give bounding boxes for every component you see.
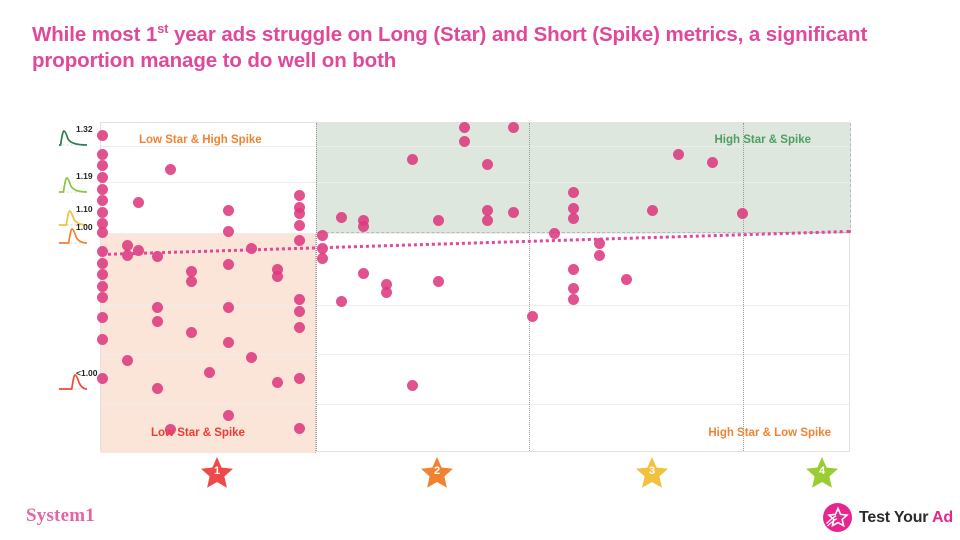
- data-point: [97, 160, 108, 171]
- gridline-vertical: [529, 123, 530, 451]
- data-point: [223, 337, 234, 348]
- y-axis-tick: 1.19: [58, 174, 102, 200]
- data-point: [336, 296, 347, 307]
- gridline-vertical: [316, 123, 317, 451]
- star-number-label: 4: [805, 465, 839, 477]
- data-point: [673, 149, 684, 160]
- data-point: [152, 302, 163, 313]
- title-superscript: st: [157, 21, 168, 36]
- data-point: [122, 355, 133, 366]
- y-axis-tick: 1.00: [58, 225, 102, 251]
- star-badge-icon: [823, 503, 852, 532]
- title-line1-b: year ads struggle on Long (Star) and Sho…: [168, 23, 760, 46]
- ad-label: Ad: [932, 509, 953, 526]
- data-point: [459, 136, 470, 147]
- scatter-chart: Low Star & High Spike High Star & Spike …: [100, 122, 850, 452]
- quadrant-label-high-star-and-spike: High Star & Spike: [715, 134, 812, 146]
- title-line1-a: While most 1: [32, 23, 157, 46]
- gridline-horizontal: [101, 404, 849, 405]
- data-point: [97, 184, 108, 195]
- data-point: [272, 271, 283, 282]
- data-point: [97, 172, 108, 183]
- test-your-ad-text: Test Your Ad: [859, 509, 953, 527]
- quadrant-label-low-star-and-spike: Low Star & Spike: [151, 427, 245, 439]
- x-axis-star-3: 3: [635, 456, 669, 490]
- test-your-ad-logo: Test Your Ad: [823, 503, 953, 532]
- zone-low-star-and-spike: [101, 233, 316, 453]
- data-point: [568, 283, 579, 294]
- star-glyph-icon: [823, 503, 852, 532]
- x-axis-star-4: 4: [805, 456, 839, 490]
- data-point: [97, 130, 108, 141]
- data-point: [737, 208, 748, 219]
- data-point: [152, 383, 163, 394]
- data-point: [433, 215, 444, 226]
- gridline-horizontal: [101, 182, 849, 183]
- y-axis-tick: <1.00: [58, 371, 102, 397]
- y-axis-tick-label: <1.00: [76, 368, 98, 378]
- gridline-horizontal: [101, 354, 849, 355]
- test-your-label: Test Your: [859, 509, 932, 526]
- data-point: [647, 205, 658, 216]
- data-point: [358, 268, 369, 279]
- data-point: [97, 258, 108, 269]
- slide: While most 1st year ads struggle on Long…: [0, 0, 960, 540]
- data-point: [152, 316, 163, 327]
- data-point: [97, 334, 108, 345]
- x-axis-star-2: 2: [420, 456, 454, 490]
- gridline-horizontal: [101, 305, 849, 306]
- star-number-label: 2: [420, 465, 454, 477]
- y-axis-tick-label: 1.32: [76, 124, 93, 134]
- data-point: [97, 207, 108, 218]
- data-point: [381, 287, 392, 298]
- data-point: [122, 240, 133, 251]
- data-point: [549, 228, 560, 239]
- y-axis: 1.321.191.101.00<1.00: [58, 122, 102, 452]
- system1-logo: System1: [26, 505, 95, 527]
- data-point: [568, 187, 579, 198]
- data-point: [482, 215, 493, 226]
- data-point: [186, 327, 197, 338]
- quadrant-label-high-star-low-spike: High Star & Low Spike: [708, 427, 831, 439]
- data-point: [407, 154, 418, 165]
- star-number-label: 3: [635, 465, 669, 477]
- data-point: [294, 208, 305, 219]
- plot-area: Low Star & High Spike High Star & Spike …: [100, 122, 850, 452]
- data-point: [97, 227, 108, 238]
- data-point: [246, 352, 257, 363]
- data-point: [204, 367, 215, 378]
- quadrant-label-low-star-high-spike: Low Star & High Spike: [139, 134, 262, 146]
- data-point: [223, 410, 234, 421]
- data-point: [317, 253, 328, 264]
- data-point: [294, 235, 305, 246]
- y-axis-tick-label: 1.10: [76, 204, 93, 214]
- y-axis-tick-label: 1.00: [76, 222, 93, 232]
- y-axis-tick-label: 1.19: [76, 171, 93, 181]
- star-number-label: 1: [200, 465, 234, 477]
- data-point: [568, 294, 579, 305]
- data-point: [272, 377, 283, 388]
- data-point: [165, 164, 176, 175]
- data-point: [133, 197, 144, 208]
- data-point: [294, 190, 305, 201]
- page-title: While most 1st year ads struggle on Long…: [32, 22, 912, 74]
- data-point: [707, 157, 718, 168]
- x-axis-stars: 1234: [100, 456, 850, 498]
- data-point: [223, 205, 234, 216]
- y-axis-tick: 1.32: [58, 127, 102, 153]
- data-point: [594, 250, 605, 261]
- gridline-horizontal: [101, 146, 849, 147]
- data-point: [317, 230, 328, 241]
- data-point: [407, 380, 418, 391]
- data-point: [97, 149, 108, 160]
- data-point: [433, 276, 444, 287]
- data-point: [97, 195, 108, 206]
- data-point: [186, 276, 197, 287]
- data-point: [97, 281, 108, 292]
- data-point: [294, 423, 305, 434]
- data-point: [508, 207, 519, 218]
- gridline-vertical: [743, 123, 744, 451]
- data-point: [482, 159, 493, 170]
- data-point: [294, 306, 305, 317]
- data-point: [294, 220, 305, 231]
- data-point: [527, 311, 538, 322]
- x-axis-star-1: 1: [200, 456, 234, 490]
- data-point: [621, 274, 632, 285]
- data-point: [336, 212, 347, 223]
- data-point: [568, 264, 579, 275]
